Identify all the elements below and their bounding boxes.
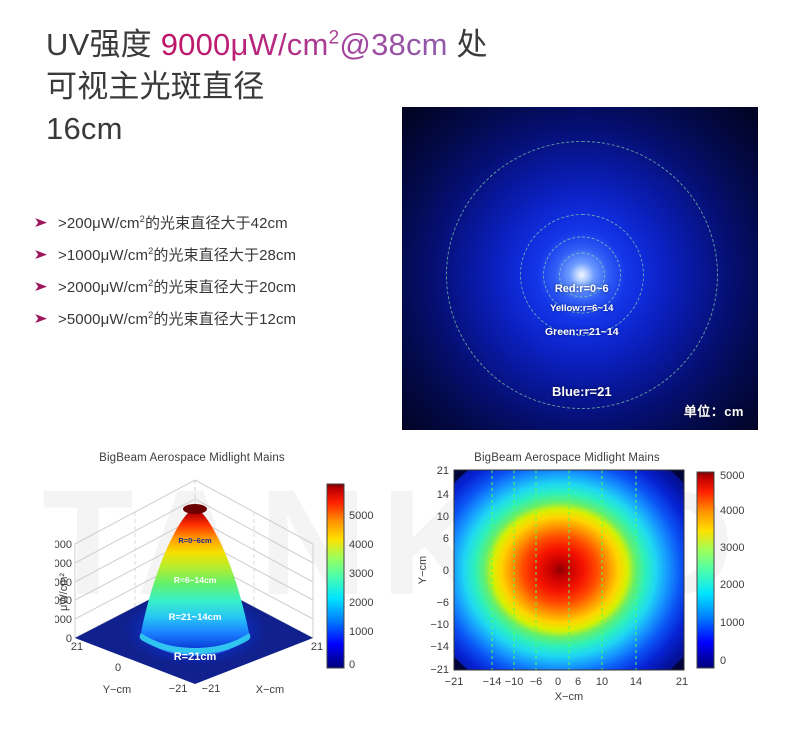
page-root: TANKDD UV强度 9000μW/cm2@38cm 处 可视主光斑直径 16…	[0, 0, 790, 729]
list-item: ➤ >5000μW/cm2的光束直径大于12cm	[36, 302, 406, 334]
list-item-label: >1000μW/cm2的光束直径大于28cm	[58, 244, 296, 265]
surface-3d-chart: BigBeam Aerospace Midlight Mains	[55, 452, 385, 712]
bullet-prefix: >1000μW/cm	[58, 247, 148, 264]
colorbar-tick: 4000	[349, 539, 373, 551]
x-tick: 10	[596, 676, 608, 688]
heading-suffix: 处	[448, 27, 488, 62]
y-tick: 0	[443, 565, 449, 577]
y-tick: −10	[430, 619, 449, 631]
surface-label-red: R=0~6cm	[178, 536, 212, 545]
y-tick: 21	[71, 641, 83, 653]
x-tick: −21	[202, 683, 221, 695]
y-axis-label: Y−cm	[103, 684, 131, 696]
y-tick: −21	[169, 683, 188, 695]
heading-accent-distance: @38cm	[339, 27, 447, 62]
heading-accent-intensity: 9000μW/cm	[161, 27, 329, 62]
list-item: ➤ >1000μW/cm2的光束直径大于28cm	[36, 238, 406, 270]
x-tick: 14	[630, 676, 642, 688]
colorbar-tick: 0	[720, 655, 726, 667]
x-tick: 0	[555, 676, 561, 688]
z-axis-label: μW/cm²	[58, 573, 70, 611]
bullet-suffix: 的光束直径大于42cm	[145, 215, 288, 232]
y-tick: 0	[115, 662, 121, 674]
bullet-suffix: 的光束直径大于20cm	[153, 279, 296, 296]
list-item-label: >5000μW/cm2的光束直径大于12cm	[58, 308, 296, 329]
surface-3d-svg: R=0~6cm R=6~14cm R=21~14cm R=21cm 5000 4…	[55, 452, 385, 697]
colorbar-tick: 3000	[720, 542, 744, 554]
y-tick: −6	[436, 597, 449, 609]
y-tick: −14	[430, 641, 449, 653]
bullet-suffix: 的光束直径大于12cm	[153, 311, 296, 328]
surface-label-blue: R=21cm	[174, 651, 217, 663]
z-tick: 4000	[55, 558, 72, 570]
x-tick: −21	[445, 676, 464, 688]
beam-label-green: Green:r=21~14	[545, 326, 619, 338]
list-item-label: >200μW/cm2的光束直径大于42cm	[58, 212, 288, 233]
y-tick: 6	[443, 533, 449, 545]
beam-label-yellow: Yellow:r=6~14	[550, 303, 613, 314]
colorbar-2d	[697, 472, 714, 668]
x-axis-label: X−cm	[555, 691, 583, 703]
bullet-prefix: >200μW/cm	[58, 215, 140, 232]
arrow-bullet-icon: ➤	[33, 279, 61, 293]
heading-line-2: 可视主光斑直径	[46, 66, 606, 108]
colorbar-tick: 2000	[349, 597, 373, 609]
surface-label-yellow: R=6~14cm	[174, 575, 217, 585]
z-tick: 5000	[55, 539, 72, 551]
heatmap-2d-svg: 21 14 10 6 0 −6 −10 −14 −21 Y−cm −21 −14…	[412, 452, 778, 707]
list-item: ➤ >2000μW/cm2的光束直径大于20cm	[36, 270, 406, 302]
x-tick: 6	[575, 676, 581, 688]
colorbar-tick: 5000	[720, 470, 744, 482]
colorbar-tick: 1000	[349, 626, 373, 638]
colorbar-tick: 1000	[720, 617, 744, 629]
beam-pattern-photo: Red:r=0~6 Yellow:r=6~14 Green:r=21~14 Bl…	[402, 107, 758, 430]
spec-bullet-list: ➤ >200μW/cm2的光束直径大于42cm ➤ >1000μW/cm2的光束…	[36, 206, 406, 334]
x-tick: −10	[505, 676, 524, 688]
beam-label-blue: Blue:r=21	[552, 384, 612, 399]
arrow-bullet-icon: ➤	[33, 215, 61, 229]
heading-accent-sup: 2	[329, 28, 340, 49]
colorbar-tick: 3000	[349, 568, 373, 580]
x-tick: 21	[676, 676, 688, 688]
x-axis-label: X−cm	[256, 684, 284, 696]
surface-label-green: R=21~14cm	[169, 612, 222, 623]
y-axis-label: Y−cm	[417, 556, 429, 584]
surface-3d-title: BigBeam Aerospace Midlight Mains	[47, 452, 337, 464]
colorbar-tick: 5000	[349, 510, 373, 522]
list-item-label: >2000μW/cm2的光束直径大于20cm	[58, 276, 296, 297]
heading-prefix: UV强度	[46, 27, 161, 62]
x-tick: −14	[483, 676, 502, 688]
beam-unit-label: 单位：cm	[684, 401, 744, 420]
colorbar-tick: 4000	[720, 505, 744, 517]
bullet-prefix: >2000μW/cm	[58, 279, 148, 296]
x-tick: −6	[530, 676, 543, 688]
y-tick: −21	[430, 664, 449, 676]
y-tick: 10	[437, 511, 449, 523]
heading-accent: 9000μW/cm2@38cm	[161, 27, 448, 62]
z-tick: 1000	[55, 614, 72, 626]
colorbar-3d	[327, 484, 344, 668]
beam-label-red: Red:r=0~6	[555, 283, 609, 295]
heatmap-2d-title: BigBeam Aerospace Midlight Mains	[422, 452, 712, 464]
colorbar-tick: 2000	[720, 579, 744, 591]
colorbar-tick: 0	[349, 659, 355, 671]
bullet-prefix: >5000μW/cm	[58, 311, 148, 328]
arrow-bullet-icon: ➤	[33, 247, 61, 261]
bullet-suffix: 的光束直径大于28cm	[153, 247, 296, 264]
arrow-bullet-icon: ➤	[33, 311, 61, 325]
heatmap-2d-chart: BigBeam Aerospace Midlight Mains	[412, 452, 778, 722]
y-tick: 21	[437, 465, 449, 477]
list-item: ➤ >200μW/cm2的光束直径大于42cm	[36, 206, 406, 238]
y-tick: 14	[437, 489, 449, 501]
x-tick: 21	[311, 641, 323, 653]
